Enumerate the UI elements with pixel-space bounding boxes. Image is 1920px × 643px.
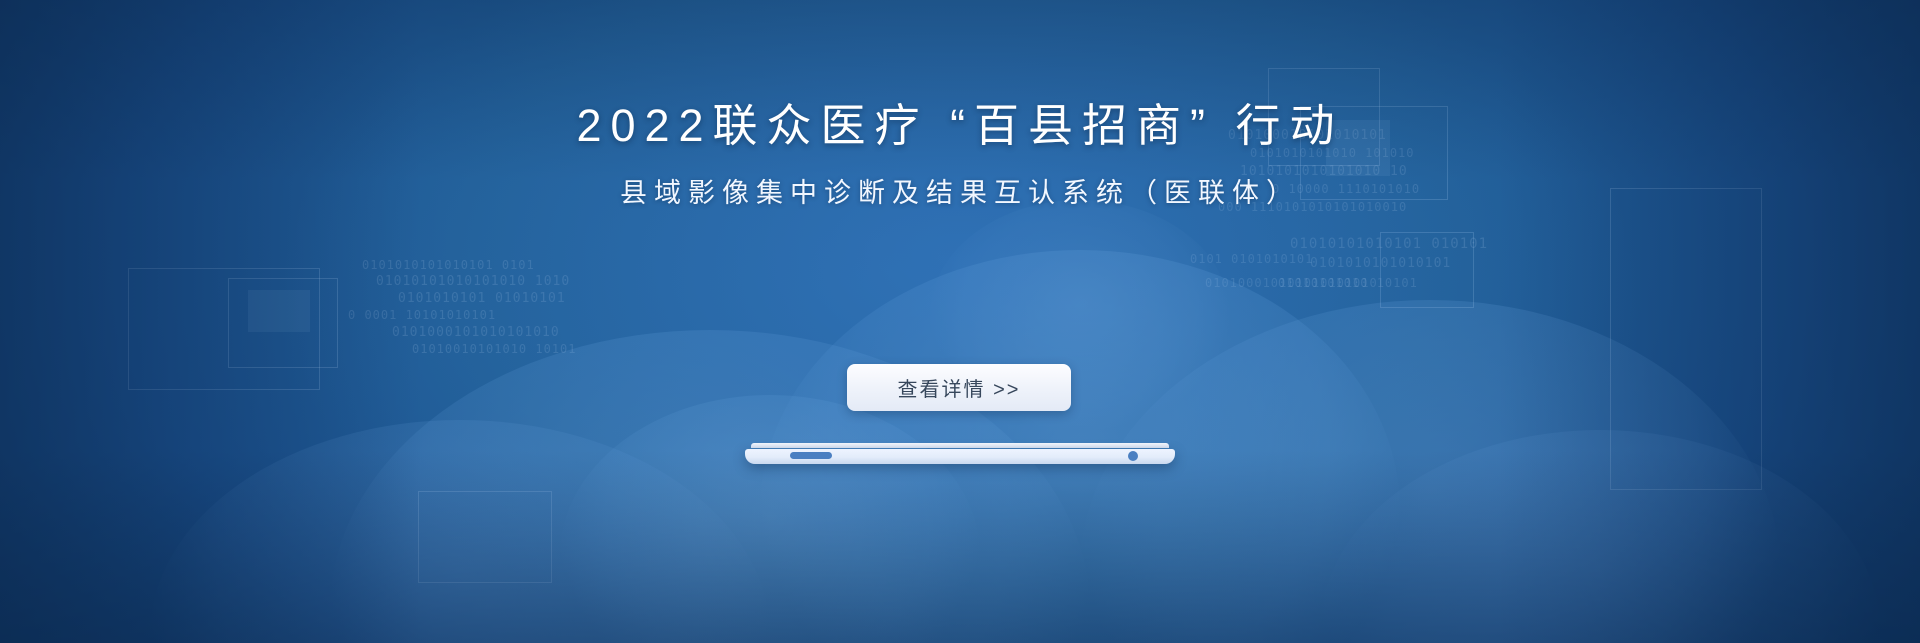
binary-text: 010100010101010101010 [1205, 276, 1378, 290]
binary-text: 0101000101010101010 [392, 325, 560, 340]
banner-text-block: 2022联众医疗 “百县招商” 行动 县域影像集中诊断及结果互认系统（医联体） [0, 0, 1920, 211]
binary-text: 01010010101010 10101 [412, 342, 577, 356]
decor-rect [1380, 232, 1474, 308]
decor-rect-fill [248, 290, 310, 332]
decor-rect [1610, 188, 1762, 490]
binary-text: 0101010101 01010101 [398, 291, 566, 306]
laptop-lip [751, 443, 1169, 448]
binary-text: 0 0001 10101010101 [348, 308, 496, 322]
binary-text: 0101 0101010101 [1190, 252, 1313, 266]
binary-text: 0101010101010101 0101 [362, 258, 535, 272]
decor-rect [418, 491, 552, 583]
laptop-base-graphic [745, 443, 1175, 471]
binary-text: 01010101010101010 1010 [376, 274, 570, 289]
view-details-button[interactable]: 查看详情 >> [847, 364, 1071, 411]
banner-title: 2022联众医疗 “百县招商” 行动 [0, 0, 1920, 154]
banner-subtitle: 县域影像集中诊断及结果互认系统（医联体） [0, 154, 1920, 211]
laptop-speaker-icon [790, 452, 832, 459]
promo-banner: 0101010101010101 0101 01010101010101010 … [0, 0, 1920, 643]
laptop-indicator-dot [1128, 451, 1138, 461]
